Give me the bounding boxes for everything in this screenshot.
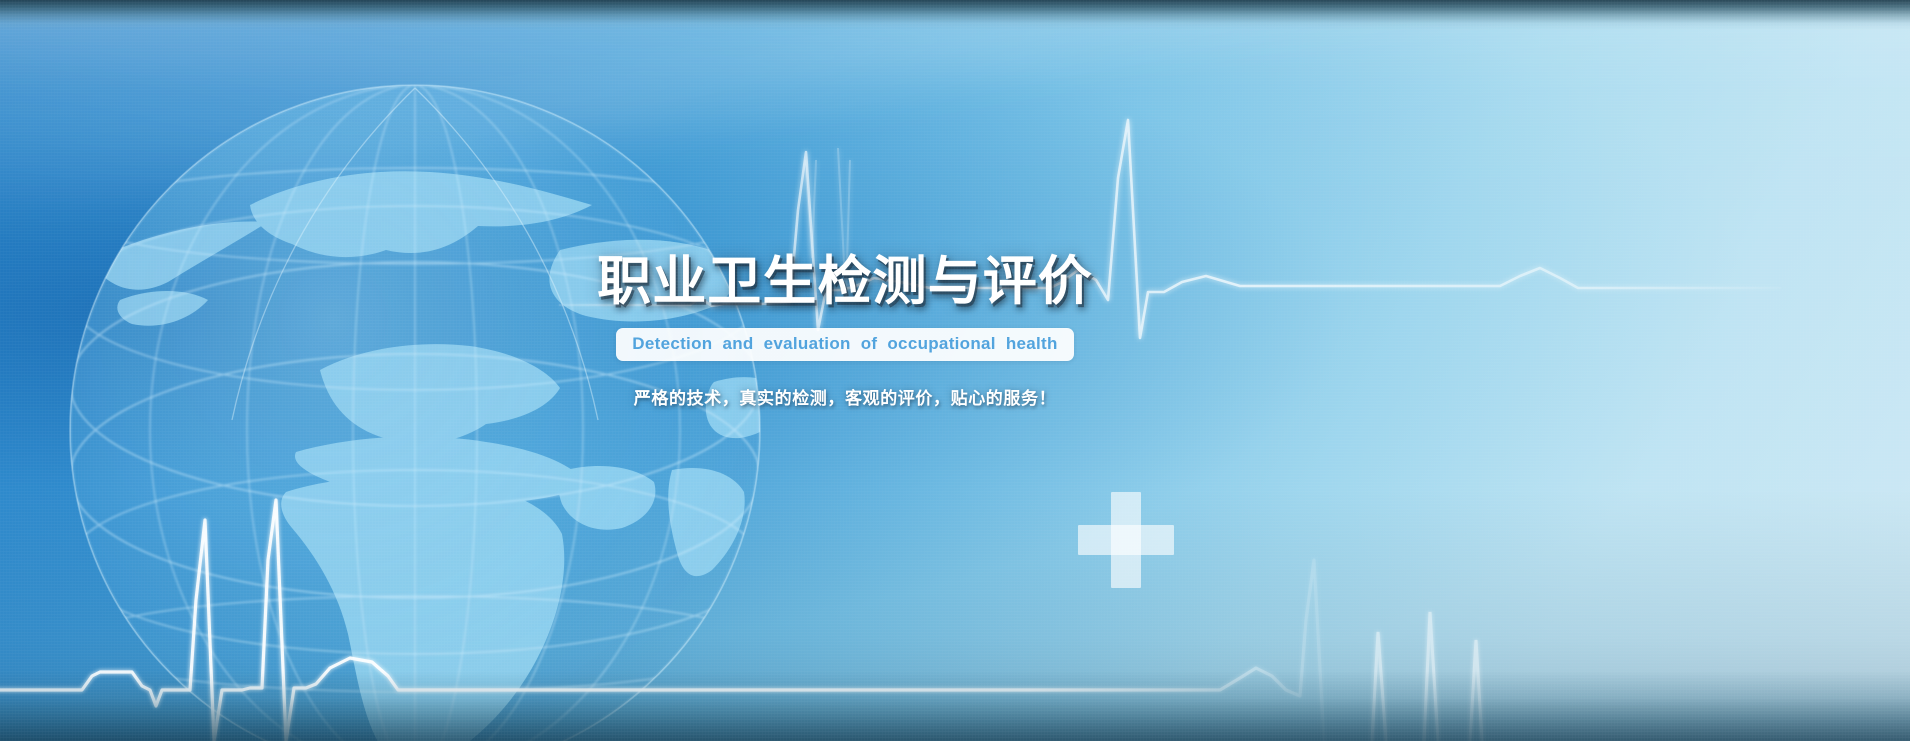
english-subtitle-pill: Detection and evaluation of occupational… <box>616 328 1073 361</box>
occupational-health-banner: 职业卫生检测与评价 Detection and evaluation of oc… <box>0 0 1910 741</box>
tagline: 严格的技术，真实的检测，客观的评价，贴心的服务！ <box>585 384 1105 409</box>
medical-cross-icon <box>1078 492 1174 588</box>
doctor-with-stethoscope-photo <box>0 0 562 741</box>
banner-text-block: 职业卫生检测与评价 Detection and evaluation of oc… <box>585 255 1105 409</box>
english-subtitle: Detection and evaluation of occupational… <box>632 334 1057 354</box>
page-title: 职业卫生检测与评价 <box>580 255 1110 308</box>
